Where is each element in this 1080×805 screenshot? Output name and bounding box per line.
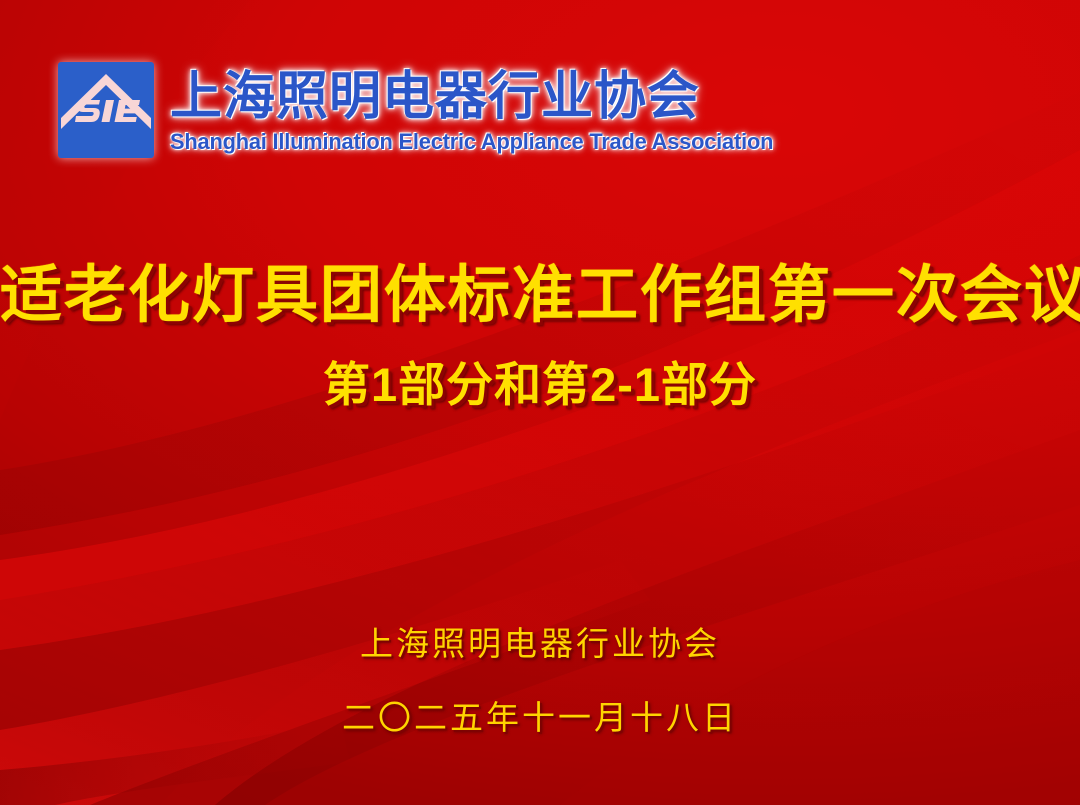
footer-block: 上海照明电器行业协会 二〇二五年十一月十八日 xyxy=(0,622,1080,740)
footer-organization: 上海照明电器行业协会 xyxy=(0,622,1080,666)
association-logo-block: 上海照明电器行业协会 Shanghai Illumination Electri… xyxy=(56,60,792,160)
slide-main-title: 适老化灯具团体标准工作组第一次会议 xyxy=(0,258,1080,334)
title-block: 适老化灯具团体标准工作组第一次会议 第1部分和第2-1部分 xyxy=(0,258,1080,414)
sie-association-logo-icon xyxy=(56,60,156,160)
organization-name-chinese: 上海照明电器行业协会 xyxy=(170,68,792,126)
presentation-slide: 上海照明电器行业协会 Shanghai Illumination Electri… xyxy=(0,0,1080,805)
footer-date: 二〇二五年十一月十八日 xyxy=(0,696,1080,740)
slide-subtitle: 第1部分和第2-1部分 xyxy=(0,356,1080,414)
organization-name-english: Shanghai Illumination Electric Appliance… xyxy=(170,129,773,155)
association-name-block: 上海照明电器行业协会 Shanghai Illumination Electri… xyxy=(170,66,792,155)
